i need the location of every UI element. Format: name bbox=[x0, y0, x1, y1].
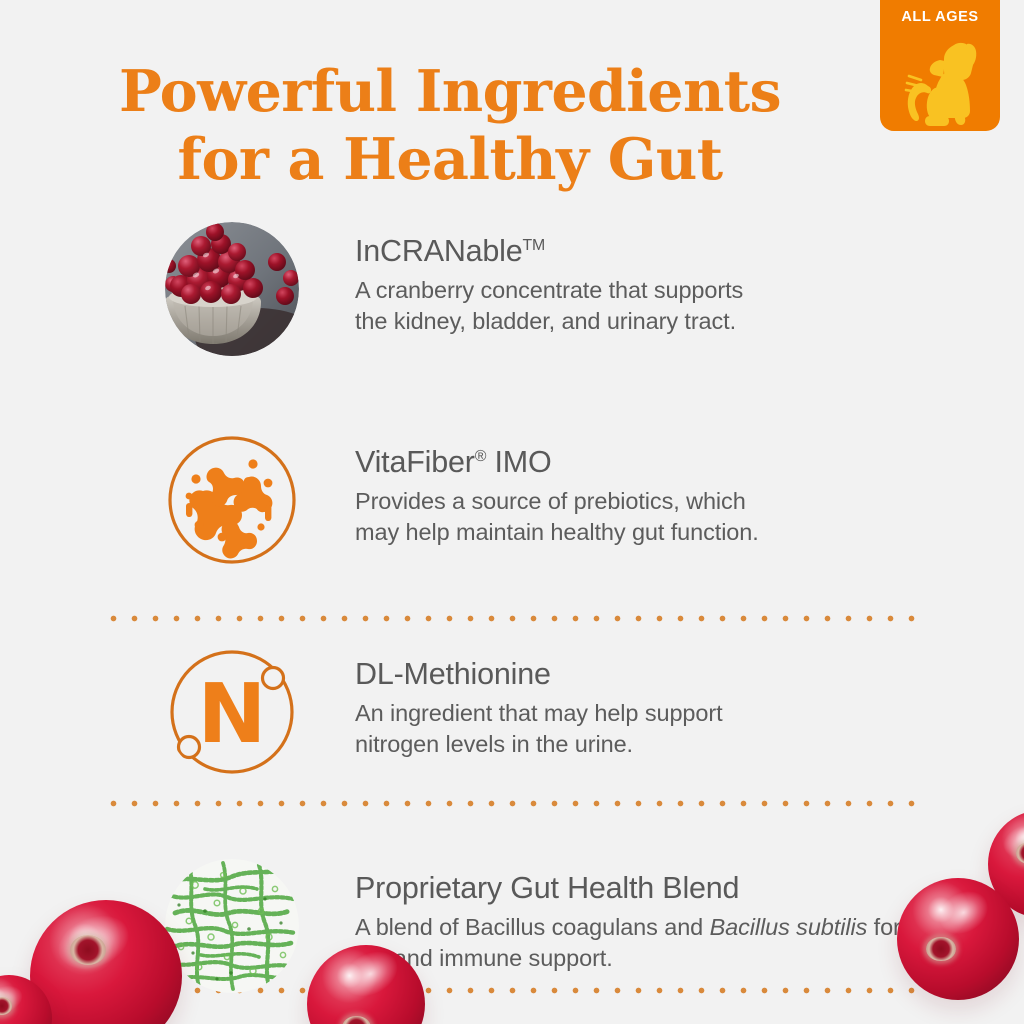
ingredient-description-line2: the kidney, bladder, and urinary tract. bbox=[355, 308, 736, 334]
ingredient-title: VitaFiber® IMO bbox=[355, 445, 915, 479]
ingredient-name: Proprietary Gut Health Blend bbox=[355, 871, 739, 905]
ingredient-description-line2: nitrogen levels in the urine. bbox=[355, 731, 633, 757]
ingredient-row: VitaFiber® IMO Provides a source of preb… bbox=[0, 433, 1024, 593]
ingredient-description: Provides a source of prebiotics, which m… bbox=[355, 486, 915, 547]
ingredient-row: N DL-Methionine An ingredient that may h… bbox=[0, 645, 1024, 805]
ingredient-description: A blend of Bacillus coagulans and Bacill… bbox=[355, 912, 915, 973]
ingredient-name: DL-Methionine bbox=[355, 657, 551, 691]
nitrogen-letter: N bbox=[198, 667, 267, 762]
ingredient-description-line1: An ingredient that may help support bbox=[355, 700, 723, 726]
bacteria-microscopy-photo bbox=[165, 859, 299, 993]
ingredient-title: Proprietary Gut Health Blend bbox=[355, 871, 915, 905]
cranberry-highlight bbox=[932, 882, 996, 941]
ingredient-description-line1: A cranberry concentrate that supports bbox=[355, 277, 743, 303]
ingredient-title: InCRANableTM bbox=[355, 234, 915, 268]
ingredient-superscript: TM bbox=[523, 237, 546, 254]
cranberry-highlight bbox=[51, 906, 137, 978]
ingredient-list: InCRANableTM A cranberry concentrate tha… bbox=[0, 222, 1024, 1019]
ingredient-description-line1: Provides a source of prebiotics, which bbox=[355, 488, 746, 514]
ingredient-text: DL-Methionine An ingredient that may hel… bbox=[355, 645, 915, 759]
ingredient-description-line2: may help maintain healthy gut function. bbox=[355, 519, 759, 545]
all-ages-badge-label: ALL AGES bbox=[901, 10, 978, 25]
ingredient-name: InCRANable bbox=[355, 234, 523, 268]
ingredient-description: A cranberry concentrate that supports th… bbox=[355, 275, 915, 336]
ingredient-name: VitaFiber bbox=[355, 445, 475, 479]
ingredient-description-italic: Bacillus subtilis bbox=[710, 914, 868, 940]
nitrogen-atom-icon: N bbox=[165, 645, 299, 779]
ingredient-title: DL-Methionine bbox=[355, 657, 915, 691]
cranberries-in-bowl-photo bbox=[165, 222, 299, 356]
page-title-line1: Powerful Ingredients bbox=[119, 58, 781, 125]
page-title-line2: for a Healthy Gut bbox=[0, 126, 900, 194]
cranberry-highlight bbox=[0, 981, 26, 1019]
ingredient-row: InCRANableTM A cranberry concentrate tha… bbox=[0, 222, 1024, 382]
section-divider bbox=[110, 615, 916, 622]
page-title: Powerful Ingredients for a Healthy Gut bbox=[0, 58, 900, 195]
ingredient-superscript: ® bbox=[475, 448, 487, 465]
ingredient-name-suffix: IMO bbox=[486, 445, 551, 479]
sitting-dog-icon bbox=[888, 32, 992, 126]
infographic-page: ALL AGES bbox=[0, 0, 1024, 1024]
ingredient-text: Proprietary Gut Health Blend A blend of … bbox=[355, 859, 915, 973]
cranberry-highlight bbox=[999, 819, 1024, 864]
cranberry-highlight bbox=[336, 943, 405, 1005]
cranberry-right bbox=[897, 878, 1019, 1000]
ingredient-text: VitaFiber® IMO Provides a source of preb… bbox=[355, 433, 915, 547]
ingredient-text: InCRANableTM A cranberry concentrate tha… bbox=[355, 222, 915, 336]
ingredient-description: An ingredient that may help support nitr… bbox=[355, 698, 915, 759]
ingredient-description-part1: A blend of Bacillus coagulans and bbox=[355, 914, 710, 940]
prebiotic-molecule-icon bbox=[165, 433, 299, 567]
